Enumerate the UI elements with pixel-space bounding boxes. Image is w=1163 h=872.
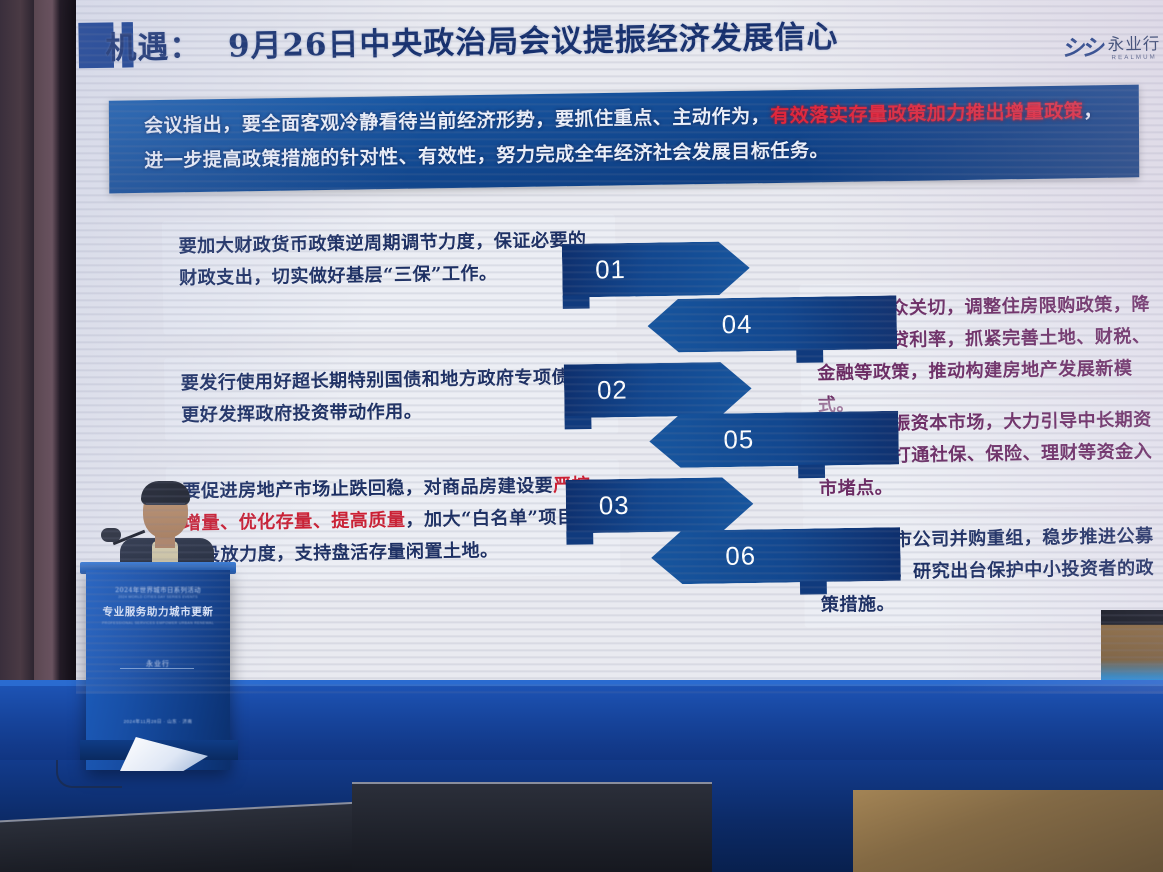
step-arrow-06-tail	[800, 581, 827, 595]
step-arrow-04: 04	[647, 295, 897, 352]
content-box-02: 要发行使用好超长期特别国债和地方政府专项债，更好发挥政府投资带动作用。	[164, 351, 618, 441]
quote-highlight-1: 有效落实存量政策	[770, 103, 927, 127]
projection-screen: 机遇：9月26日中央政治局会议提振经济发展信心 シシ 永业行 REALMUM 会…	[76, 0, 1163, 694]
step-arrow-04-tail	[796, 349, 823, 363]
speaker-glasses	[146, 503, 185, 513]
step-number-06: 06	[725, 541, 756, 571]
step-arrow-02-tail	[565, 416, 592, 430]
page-title: 机遇：9月26日中央政治局会议提振经济发展信心	[105, 10, 930, 68]
quote-highlight-2: 加力推出增量政策	[927, 101, 1084, 125]
logo-text-group: 永业行 REALMUM	[1107, 30, 1160, 62]
step-arrow-05: 05	[649, 411, 899, 468]
step-number-04: 04	[721, 310, 752, 340]
conference-room-photo: 机遇：9月26日中央政治局会议提振经济发展信心 シシ 永业行 REALMUM 会…	[0, 0, 1163, 872]
logo-name-cn: 永业行	[1108, 34, 1161, 54]
step-number-02: 02	[597, 375, 628, 405]
step-arrow-01-tail	[563, 295, 590, 309]
step-number-05: 05	[723, 425, 754, 455]
podium-event-name-cn: 2024年世界城市日系列活动	[100, 584, 216, 594]
content-box-01: 要加大财政货币政策逆周期调节力度，保证必要的财政支出，切实做好基层“三保”工作。	[162, 214, 617, 334]
page-title-text: 9月26日中央政治局会议提振经济发展信心	[228, 19, 839, 65]
company-logo: シシ 永业行 REALMUM	[1061, 29, 1160, 64]
podium-event-name-en: 2024 WORLD CITIES DAY SERIES EVENTS	[100, 595, 216, 599]
step-number-03: 03	[599, 491, 630, 521]
podium-divider	[120, 668, 194, 669]
step-number-01: 01	[595, 255, 626, 285]
step-arrow-06: 06	[651, 527, 901, 584]
step-arrow-05-tail	[798, 464, 825, 478]
podium-date-location: 2024年11月28日 · 山东 · 济南	[100, 719, 216, 725]
logo-mark-icon: シシ	[1061, 30, 1101, 64]
speaker-hair	[141, 481, 190, 505]
stage-cable	[56, 760, 122, 788]
content-text-02: 要发行使用好超长期特别国债和地方政府专项债，更好发挥政府投资带动作用。	[181, 367, 589, 426]
step-arrow-03: 03	[566, 477, 754, 533]
quote-segment-1: 会议指出，要全面客观冷静看待当前经济形势，要抓住重点、主动作为，	[144, 106, 770, 137]
content-text-01: 要加大财政货币政策逆周期调节力度，保证必要的财政支出，切实做好基层“三保”工作。	[178, 230, 586, 289]
step-arrow-03-tail	[566, 531, 593, 545]
quote-banner-text: 会议指出，要全面客观冷静看待当前经济形势，要抓住重点、主动作为，有效落实存量政策…	[144, 94, 1107, 179]
podium-sign: 2024年世界城市日系列活动 2024 WORLD CITIES DAY SER…	[100, 584, 216, 725]
content-text-03-pre: 要促进房地产市场止跌回稳，对商品房建设要	[182, 476, 553, 502]
presentation-slide: 机遇：9月26日中央政治局会议提振经济发展信心 シシ 永业行 REALMUM 会…	[76, 0, 1163, 694]
floor-carpet	[853, 790, 1163, 872]
step-arrow-02: 02	[564, 362, 752, 418]
step-arrow-01: 01	[562, 241, 750, 297]
quote-banner: 会议指出，要全面客观冷静看待当前经济形势，要抓住重点、主动作为，有效落实存量政策…	[109, 85, 1139, 194]
logo-name-en: REALMUM	[1108, 54, 1161, 61]
page-title-label: 机遇：	[105, 29, 201, 67]
chair-back-right	[352, 782, 712, 872]
podium-theme-en: PROFESSIONAL SERVICES EMPOWER URBAN RENE…	[100, 621, 216, 625]
microphone-icon	[101, 528, 121, 542]
podium-theme-cn: 专业服务助力城市更新	[100, 604, 216, 619]
